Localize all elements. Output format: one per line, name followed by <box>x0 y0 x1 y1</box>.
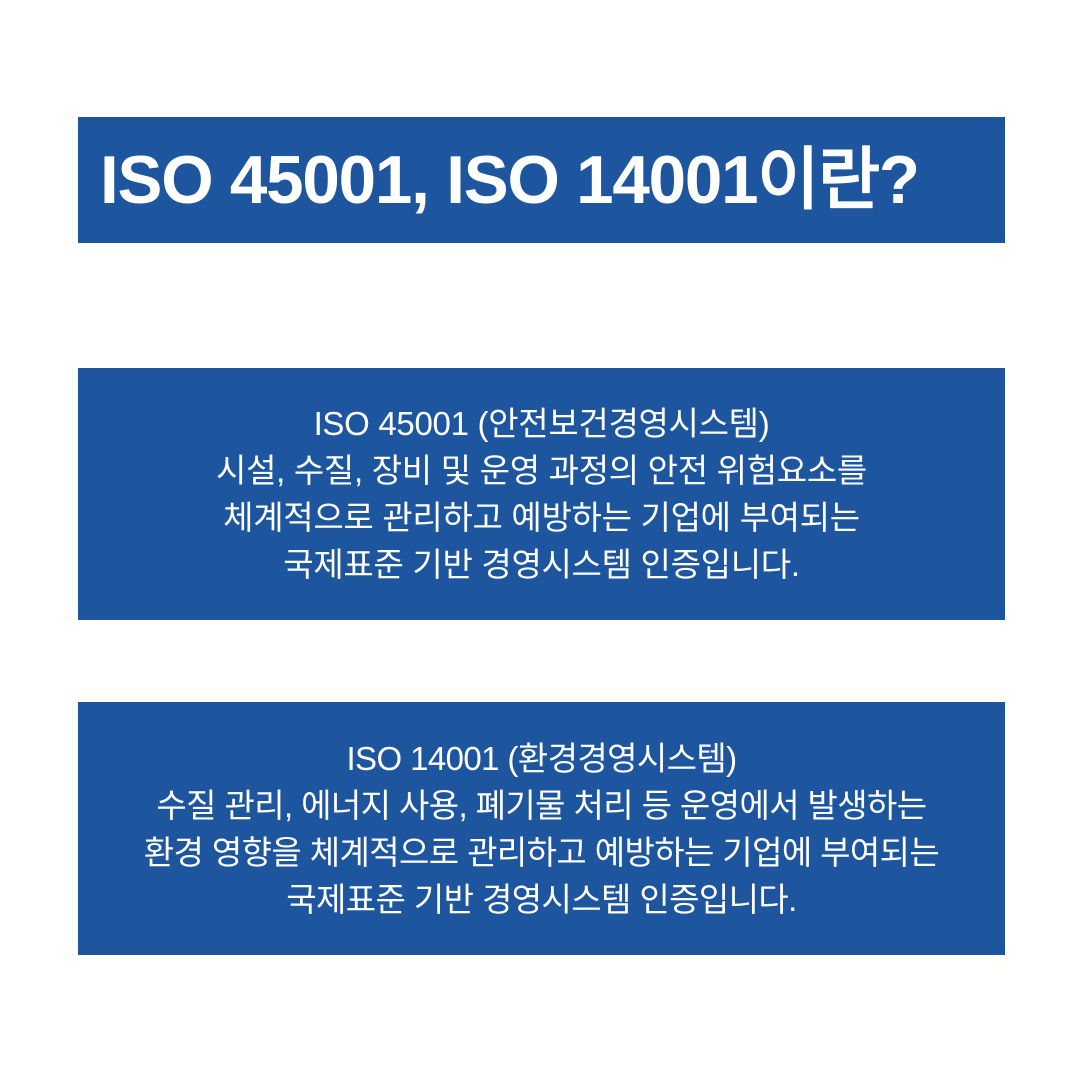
iso-45001-line-1: 시설, 수질, 장비 및 운영 과정의 안전 위험요소를 <box>216 447 867 494</box>
iso-14001-heading: ISO 14001 (환경경영시스템) <box>346 735 736 782</box>
page-title: ISO 45001, ISO 14001이란? <box>100 146 919 214</box>
iso-14001-line-2: 환경 영향을 체계적으로 관리하고 예방하는 기업에 부여되는 <box>144 829 939 876</box>
iso-45001-line-3: 국제표준 기반 경영시스템 인증입니다. <box>283 541 799 588</box>
iso-14001-line-1: 수질 관리, 에너지 사용, 폐기물 처리 등 운영에서 발생하는 <box>156 782 926 829</box>
info-block-iso-45001: ISO 45001 (안전보건경영시스템) 시설, 수질, 장비 및 운영 과정… <box>78 368 1005 620</box>
info-block-iso-14001: ISO 14001 (환경경영시스템) 수질 관리, 에너지 사용, 폐기물 처… <box>78 702 1005 955</box>
iso-45001-heading: ISO 45001 (안전보건경영시스템) <box>314 400 770 447</box>
iso-14001-line-3: 국제표준 기반 경영시스템 인증입니다. <box>286 876 796 923</box>
iso-info-card: ISO 45001, ISO 14001이란? ISO 45001 (안전보건경… <box>0 0 1080 1080</box>
iso-45001-line-2: 체계적으로 관리하고 예방하는 기업에 부여되는 <box>223 494 860 541</box>
title-banner: ISO 45001, ISO 14001이란? <box>78 117 1005 243</box>
